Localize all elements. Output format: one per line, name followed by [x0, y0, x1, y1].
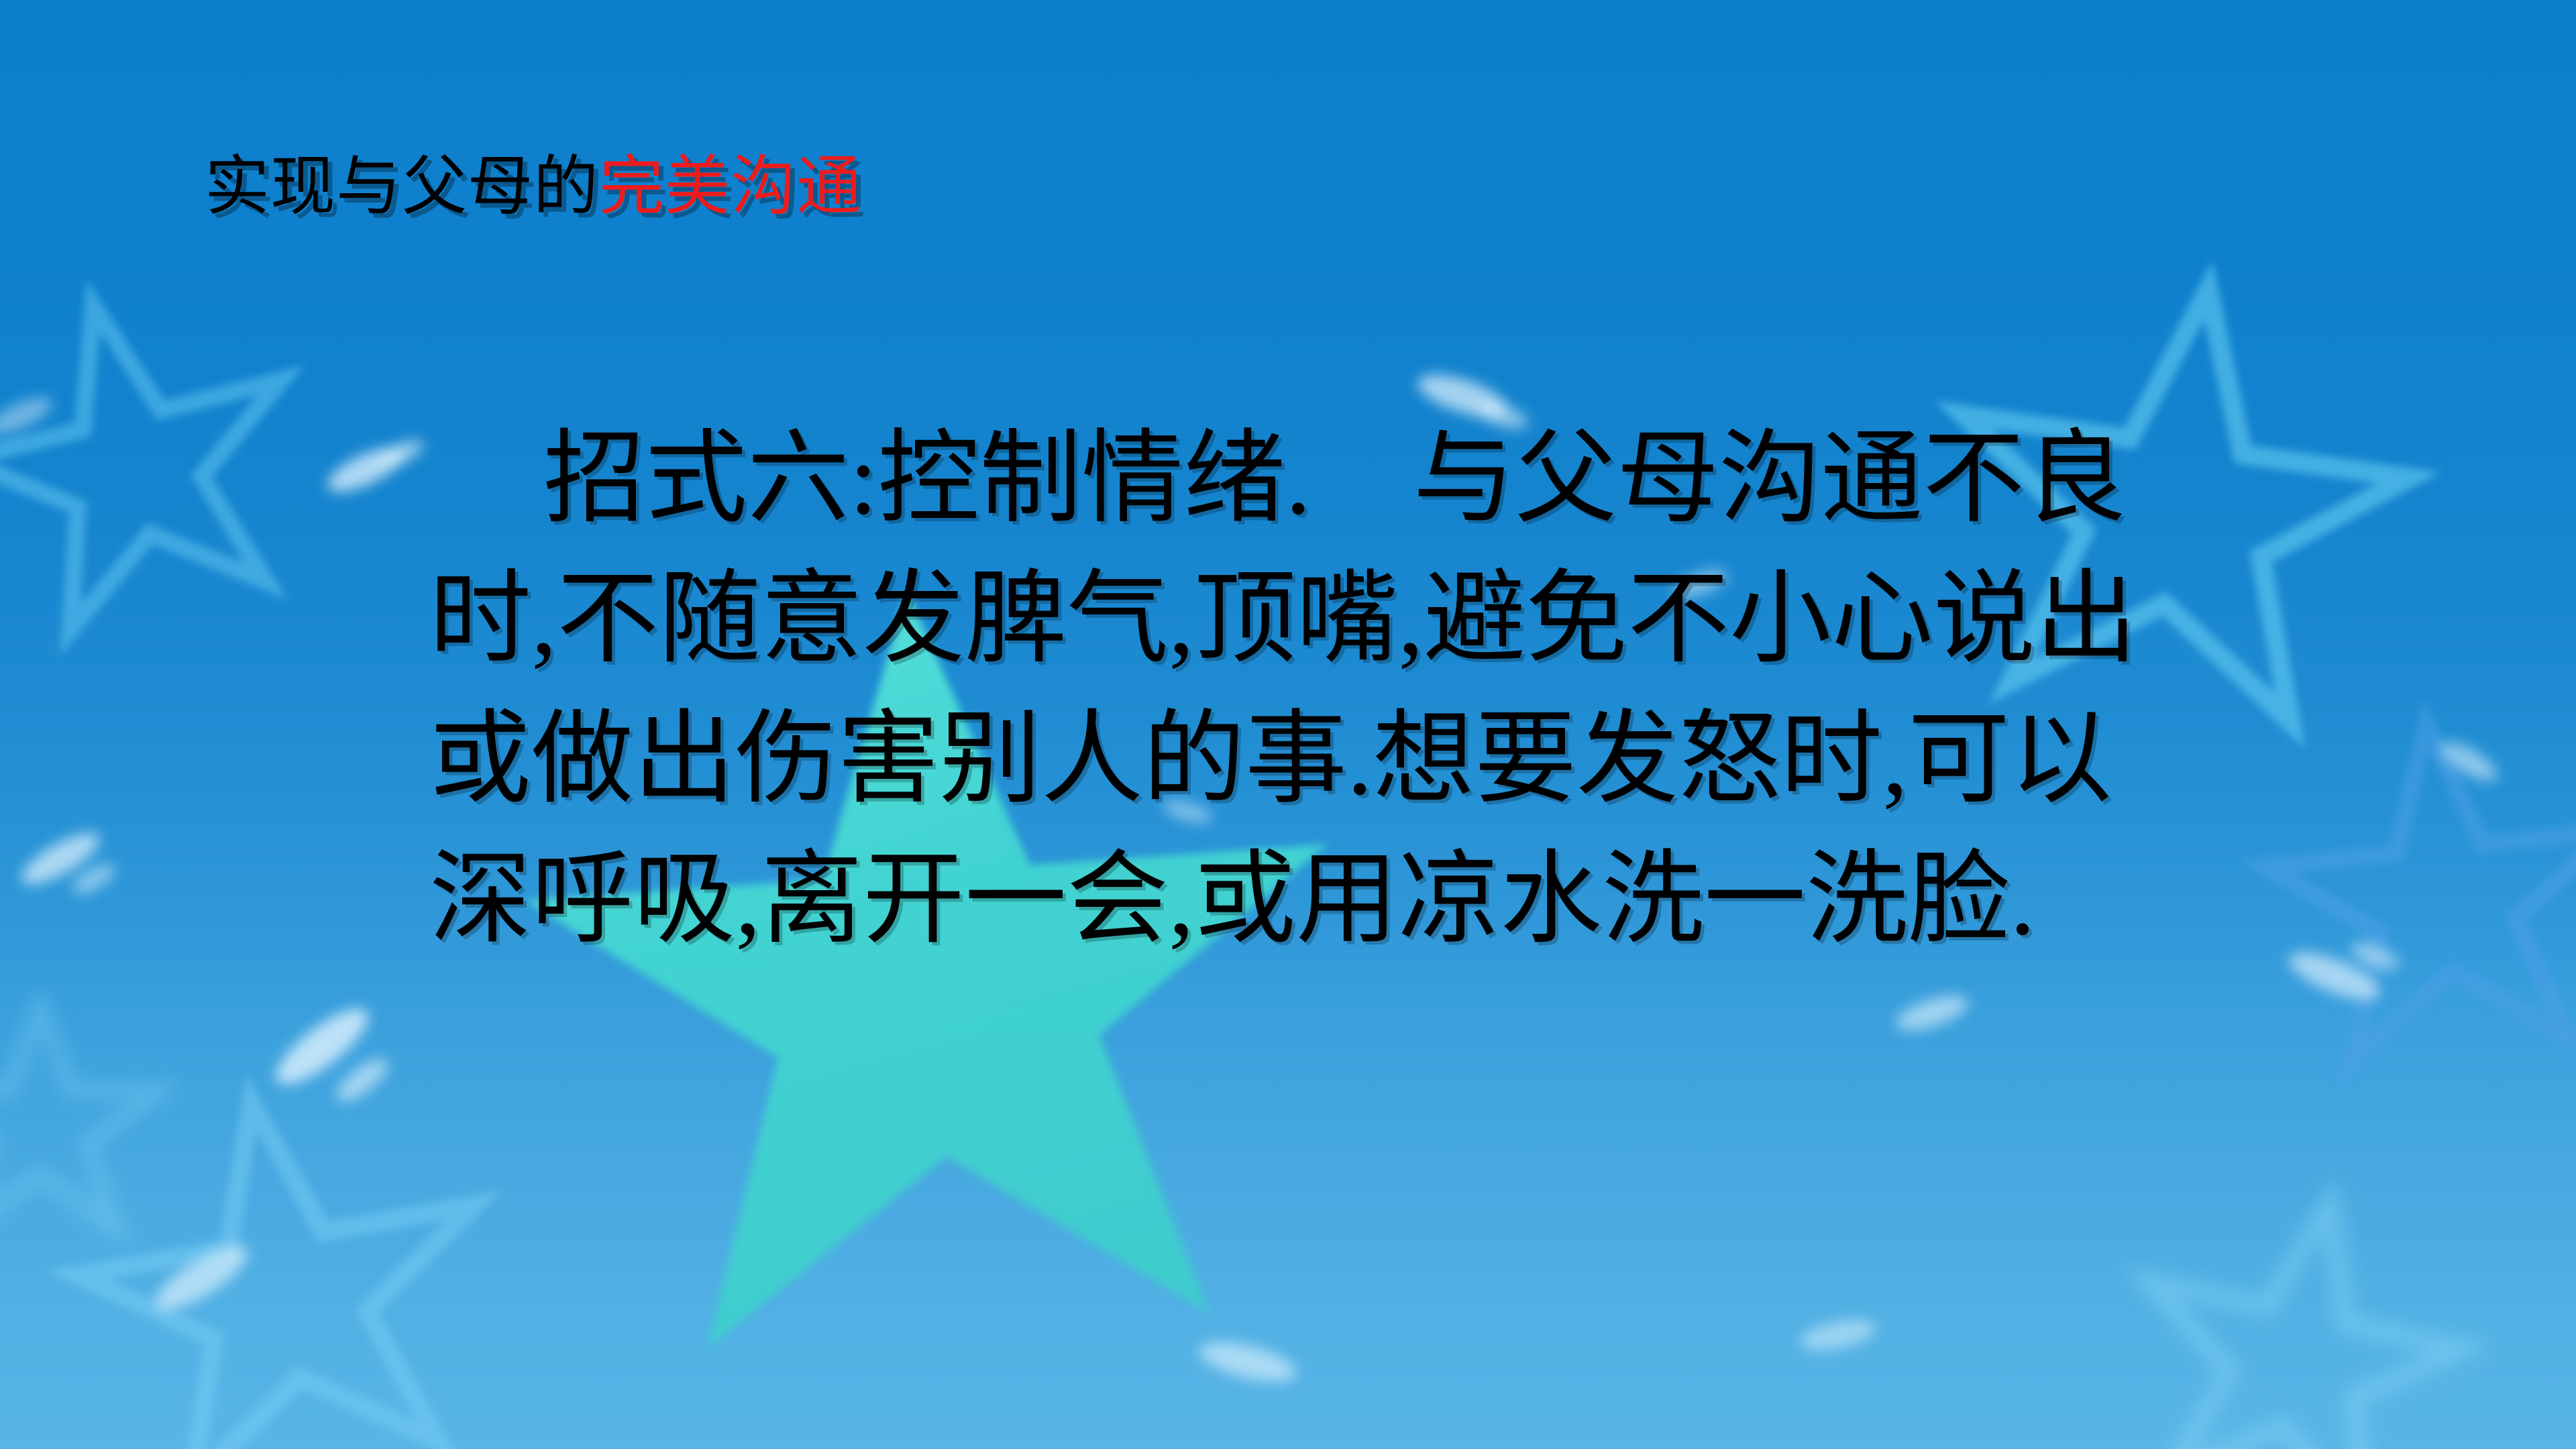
slide-title-red-part: 完美沟通 — [599, 151, 862, 223]
star-outline-left-lower — [0, 1006, 161, 1228]
presentation-slide: 实现与父母的完美沟通 招式六:控制情绪. 与父母沟通不良时,不随意发脾气,顶嘴,… — [0, 0, 2576, 1449]
slide-title-black-part: 实现与父母的 — [205, 151, 599, 223]
star-outline-bottom-left — [53, 1068, 513, 1449]
star-outline-top-left — [0, 266, 327, 645]
slide-body-text: 招式六:控制情绪. 与父母沟通不良时,不随意发脾气,顶嘴,避免不小心说出或做出伤… — [429, 409, 2187, 970]
star-outline-right-middle — [2253, 707, 2576, 1067]
star-outline-bottom-right — [2110, 1171, 2487, 1449]
slide-title: 实现与父母的完美沟通 — [205, 153, 862, 221]
